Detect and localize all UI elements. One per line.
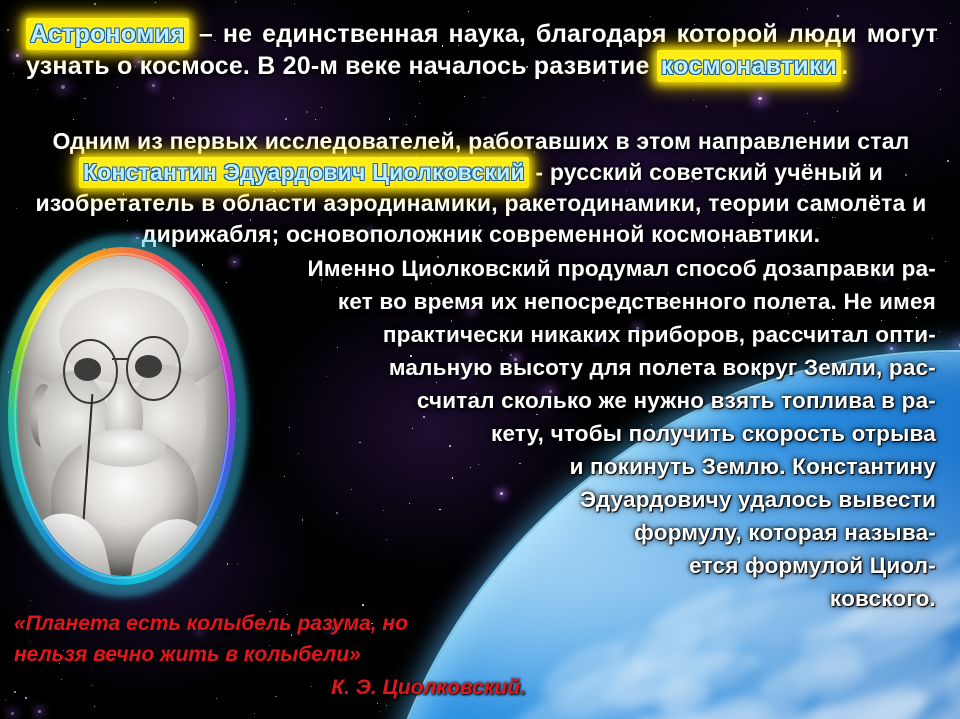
- paragraph-rocket-formula: Именно Циолковский продумал способ дозап…: [236, 252, 936, 615]
- quote-line1: «Планета есть колыбель разума, но: [14, 612, 408, 635]
- star: [61, 85, 65, 89]
- star: [947, 160, 949, 162]
- highlight-astronomy: Астрономия: [26, 18, 189, 50]
- star: [807, 8, 809, 10]
- paragraph-astronomy: Астрономия – не единственная наука, благ…: [26, 18, 938, 82]
- star: [415, 116, 416, 117]
- paragraph-line: и покинуть Землю. Константину: [236, 450, 936, 483]
- star: [117, 87, 118, 88]
- star: [94, 3, 96, 5]
- star: [837, 111, 838, 112]
- star: [419, 103, 420, 104]
- star: [84, 98, 86, 100]
- star: [837, 15, 839, 17]
- star: [733, 82, 734, 83]
- paragraph-line: Именно Циолковский продумал способ дозап…: [236, 252, 936, 285]
- star: [693, 99, 694, 100]
- star: [468, 11, 469, 12]
- star: [235, 1, 237, 3]
- quote-line2: нельзя вечно жить в колыбели»: [14, 643, 361, 666]
- star: [940, 89, 941, 90]
- star: [950, 23, 951, 24]
- highlight-cosmonautics: космонавтики: [657, 50, 841, 82]
- star: [650, 16, 651, 17]
- star: [759, 102, 760, 103]
- star: [386, 705, 387, 706]
- star: [377, 703, 378, 704]
- paragraph-line: практически никаких приборов, рассчитал …: [236, 318, 936, 351]
- star: [939, 331, 940, 332]
- star: [932, 238, 933, 239]
- paragraph-line: ется формулой Циол-: [236, 549, 936, 582]
- star: [30, 600, 31, 601]
- star: [464, 96, 465, 97]
- tsiolkovsky-quote: «Планета есть колыбель разума, но нельзя…: [14, 608, 534, 703]
- star: [13, 73, 14, 74]
- paragraph-intro-lead: стал: [857, 128, 909, 154]
- star: [294, 3, 295, 4]
- star: [484, 97, 485, 98]
- portrait-face: [17, 256, 227, 576]
- paragraph-line: мальную высоту для полета вокруг Земли, …: [236, 351, 936, 384]
- star: [254, 713, 255, 714]
- star: [155, 2, 156, 3]
- star: [315, 119, 316, 120]
- paragraph-line: Эдуардовичу удалось вывести: [236, 483, 936, 516]
- presentation-slide: Астрономия – не единственная наука, благ…: [0, 0, 960, 719]
- star: [37, 89, 38, 90]
- star: [16, 208, 17, 209]
- star: [7, 29, 9, 31]
- star: [152, 84, 155, 87]
- tsiolkovsky-portrait: [8, 247, 236, 585]
- star: [701, 84, 702, 85]
- star: [814, 121, 815, 122]
- star: [758, 97, 762, 101]
- star: [389, 118, 391, 120]
- highlight-tsiolkovsky-name: Константин Эдуардович Циолковский: [79, 157, 529, 188]
- star: [706, 106, 708, 108]
- star: [173, 97, 175, 99]
- paragraph-line: формулу, которая называ-: [236, 516, 936, 549]
- paragraph-intro-line1: Одним из первых исследователей, работавш…: [52, 128, 850, 154]
- star: [16, 54, 19, 57]
- star: [379, 711, 380, 712]
- star: [38, 710, 41, 713]
- star: [807, 113, 808, 114]
- star: [406, 124, 407, 125]
- star: [306, 111, 308, 113]
- star: [5, 700, 6, 701]
- star: [285, 118, 287, 120]
- paragraph-tsiolkovsky-intro: Одним из первых исследователей, работавш…: [30, 126, 932, 250]
- paragraph-line: кет во время их непосредственного полета…: [236, 285, 936, 318]
- star: [945, 261, 946, 262]
- paragraph-line: считал сколько же нужно взять топлива в …: [236, 384, 936, 417]
- star: [321, 107, 322, 108]
- paragraph-line: кету, чтобы получить скорость отрыва: [236, 417, 936, 450]
- paragraph-astronomy-part2: .: [841, 52, 848, 80]
- quote-author: К. Э. Циолковский.: [14, 672, 534, 703]
- star: [11, 712, 14, 715]
- star: [73, 119, 74, 120]
- star: [94, 706, 95, 707]
- portrait-photo: [17, 256, 227, 576]
